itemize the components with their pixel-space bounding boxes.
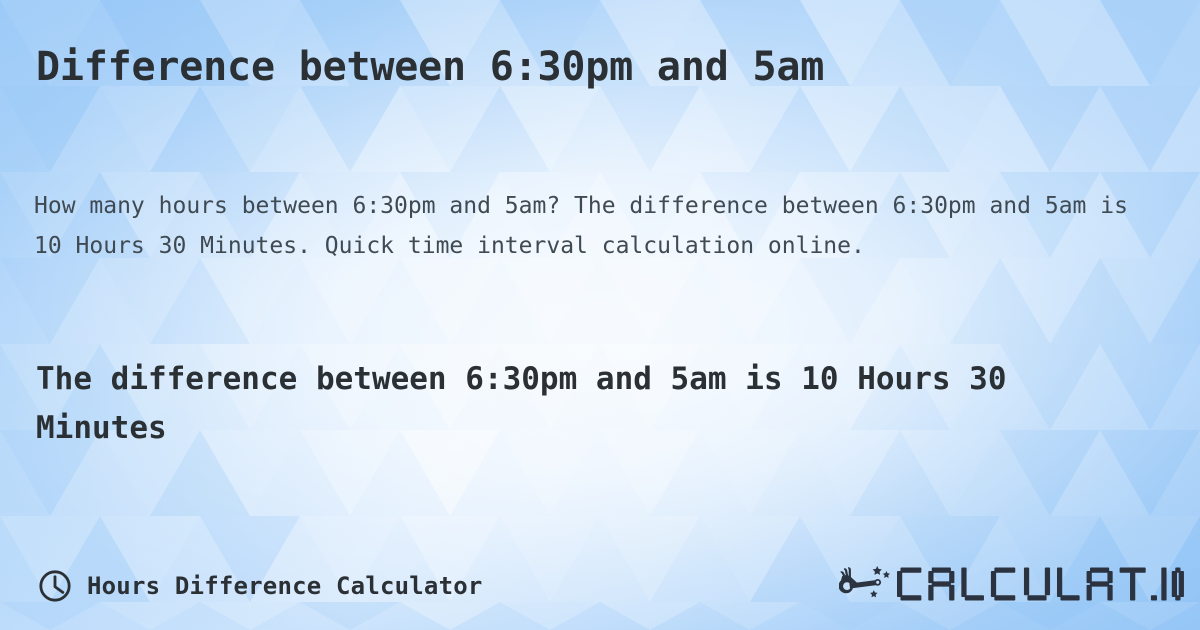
content-layer: Difference between 6:30pm and 5am How ma… — [0, 0, 1200, 630]
brand-wordmark: CALCULAT.IO — [897, 564, 1184, 604]
brand-logo[interactable]: CALCULAT.IO — [839, 564, 1184, 604]
footer: Hours Difference Calculator — [0, 530, 1200, 630]
og-image-card: Difference between 6:30pm and 5am How ma… — [0, 0, 1200, 630]
tool-badge: Hours Difference Calculator — [38, 569, 483, 603]
tool-name-label: Hours Difference Calculator — [87, 572, 483, 600]
page-title: Difference between 6:30pm and 5am — [36, 44, 1176, 91]
clock-icon — [38, 569, 72, 603]
magic-wand-hand-icon — [839, 564, 891, 604]
answer-heading: The difference between 6:30pm and 5am is… — [36, 355, 1111, 453]
page-description: How many hours between 6:30pm and 5am? T… — [34, 186, 1149, 266]
